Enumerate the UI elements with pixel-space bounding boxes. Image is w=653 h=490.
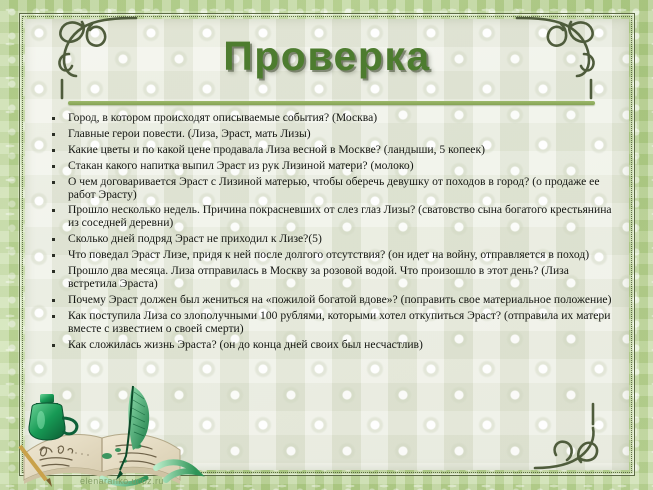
question-list: Город, в котором происходят описываемые … [44, 112, 619, 355]
list-item: Прошло несколько недель. Причина покрасн… [44, 204, 619, 230]
list-item: Главные герои повести. (Лиза, Эраст, мат… [44, 128, 619, 141]
title-divider [68, 101, 595, 105]
list-item: Как поступила Лиза со злополучными 100 р… [44, 310, 619, 336]
list-item: Прошло два месяца. Лиза отправилась в Мо… [44, 265, 619, 291]
page-title: Проверка [223, 36, 430, 77]
list-item: Как сложилась жизнь Эраста? (он до конца… [44, 339, 619, 352]
title-container: Проверка [25, 28, 629, 84]
list-item: О чем договаривается Эраст с Лизиной мат… [44, 176, 619, 202]
list-item: Сколько дней подряд Эраст не приходил к … [44, 233, 619, 246]
list-item: Почему Эраст должен был жениться на «пож… [44, 294, 619, 307]
list-item: Какие цветы и по какой цене продавала Ли… [44, 144, 619, 157]
list-item: Стакан какого напитка выпил Эраст из рук… [44, 160, 619, 173]
presentation-slide: Проверка Город, в котором происходят опи… [0, 0, 653, 490]
list-item: Что поведал Эраст Лизе, придя к ней посл… [44, 249, 619, 262]
list-item: Город, в котором происходят описываемые … [44, 112, 619, 125]
watermark-text: elenaranko.ucoz.ru [80, 476, 164, 486]
